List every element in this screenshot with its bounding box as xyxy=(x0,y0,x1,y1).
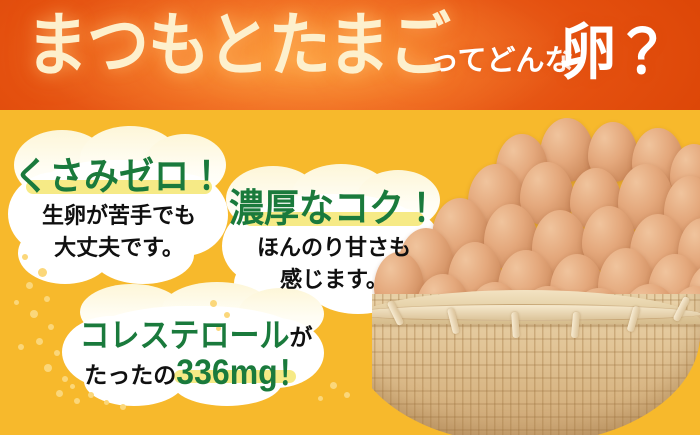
bubble-headline: くさみゼロ！ xyxy=(8,145,230,201)
bubble-headline: 濃厚なコク！ xyxy=(222,177,446,233)
header-title-row: まつもとたまご ってどんな 卵？ xyxy=(0,0,700,110)
bubble-line-2: 感じます。 xyxy=(222,262,446,294)
bubble-value-mark: ！ xyxy=(278,346,308,394)
page-subtitle: ってどんな xyxy=(430,47,574,76)
header-band: まつもとたまご ってどんな 卵？ xyxy=(0,0,700,110)
bubble-noukou-koku: 濃厚なコク！ ほんのり甘さも 感じます。 xyxy=(222,164,446,316)
bubble-line-1: ほんのり甘さも xyxy=(222,230,446,262)
bubble-line-2: 大丈夫です。 xyxy=(8,230,230,262)
bubble-line-1: 生卵が苦手でも xyxy=(8,198,230,230)
bubble-value-row: たったの336mg！ xyxy=(62,348,330,392)
bubble-cholesterol: コレステロールが たったの336mg！ xyxy=(62,284,330,408)
poster-root: まつもとたまご ってどんな 卵？ xyxy=(0,0,700,435)
bubble-kusami-zero: くさみゼロ！ 生卵が苦手でも 大丈夫です。 xyxy=(8,126,230,286)
page-subtitle-kanji: 卵？ xyxy=(560,22,668,82)
bubble-value-prefix: たったの xyxy=(84,362,176,388)
basket-rim-band xyxy=(372,304,700,321)
bubble-value: 336mg xyxy=(176,352,277,393)
page-title: まつもとたまご xyxy=(26,12,450,81)
